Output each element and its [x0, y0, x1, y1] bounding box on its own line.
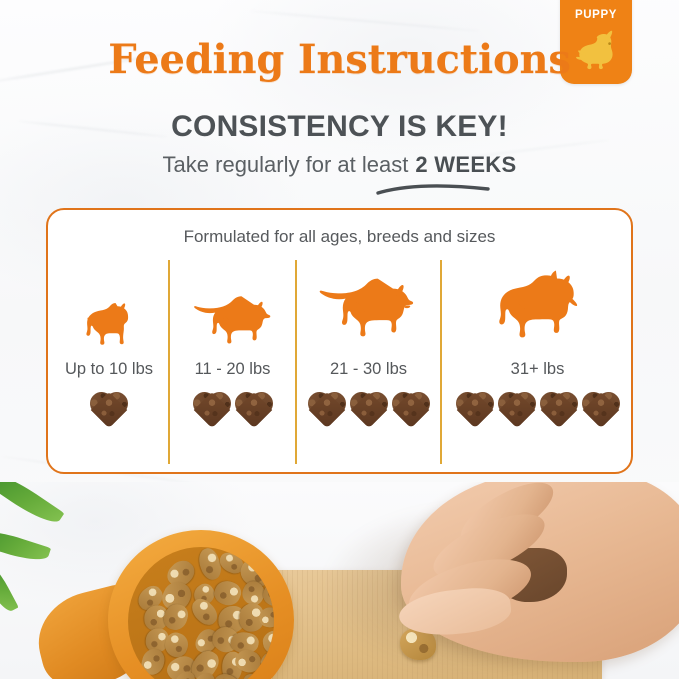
treat-row: [193, 390, 273, 424]
page-subtitle: CONSISTENCY IS KEY!: [0, 110, 679, 144]
treat-heart-icon: [193, 390, 231, 424]
treat-heart-icon: [456, 390, 494, 424]
treat-row: [308, 390, 430, 424]
tagline-emphasis-text: 2 WEEKS: [415, 152, 516, 177]
feeding-chart-card: Formulated for all ages, breeds and size…: [46, 208, 633, 474]
treat-heart-icon: [540, 390, 578, 424]
feeding-column-up-to-10-lbs: Up to 10 lbs: [50, 266, 168, 464]
hand-holding-treat: [401, 482, 679, 662]
treat-heart-icon: [392, 390, 430, 424]
treat-row: [456, 390, 620, 424]
kibble-piece: [211, 578, 244, 610]
tagline-lead-text: Take regularly for at least: [163, 152, 409, 177]
leaf-icon: [0, 558, 19, 615]
infographic-canvas: PUPPY Feeding Instructions CONSISTENCY I…: [0, 0, 679, 679]
treat-heart-icon: [350, 390, 388, 424]
marble-vein: [250, 10, 479, 32]
orange-scoop: [108, 530, 294, 679]
tagline: Take regularly for at least2 WEEKS: [0, 152, 679, 178]
feeding-column-31-plus-lbs: 31+ lbs: [442, 266, 633, 464]
card-note-text: Formulated for all ages, breeds and size…: [48, 227, 631, 247]
tagline-underline-swoosh: [190, 182, 490, 201]
weight-label: Up to 10 lbs: [65, 360, 153, 379]
leaf-icon: [0, 525, 51, 567]
small-puppy-standing-icon: [50, 266, 168, 352]
feeding-column-21-30-lbs: 21 - 30 lbs: [297, 266, 440, 464]
treat-heart-icon: [582, 390, 620, 424]
treat-heart-icon: [90, 390, 128, 424]
treat-heart-icon: [498, 390, 536, 424]
kibble-piece: [140, 647, 167, 677]
puppy-badge-label: PUPPY: [575, 9, 617, 21]
treat-row: [90, 390, 128, 424]
medium-puppy-standing-icon: [170, 266, 295, 352]
treat-heart-icon: [235, 390, 273, 424]
page-title: Feeding Instructions: [0, 36, 679, 83]
weight-label: 11 - 20 lbs: [195, 360, 271, 379]
weight-label: 21 - 30 lbs: [330, 360, 407, 379]
feeding-column-11-20-lbs: 11 - 20 lbs: [170, 266, 295, 464]
leaf-icon: [0, 482, 64, 530]
weight-label: 31+ lbs: [511, 360, 565, 379]
extra-large-dog-standing-icon: [442, 266, 633, 352]
scoop-kibble-fill: [128, 547, 274, 679]
large-dog-standing-icon: [297, 266, 440, 352]
treat-heart-icon: [308, 390, 346, 424]
product-photo-scene: [0, 482, 679, 679]
